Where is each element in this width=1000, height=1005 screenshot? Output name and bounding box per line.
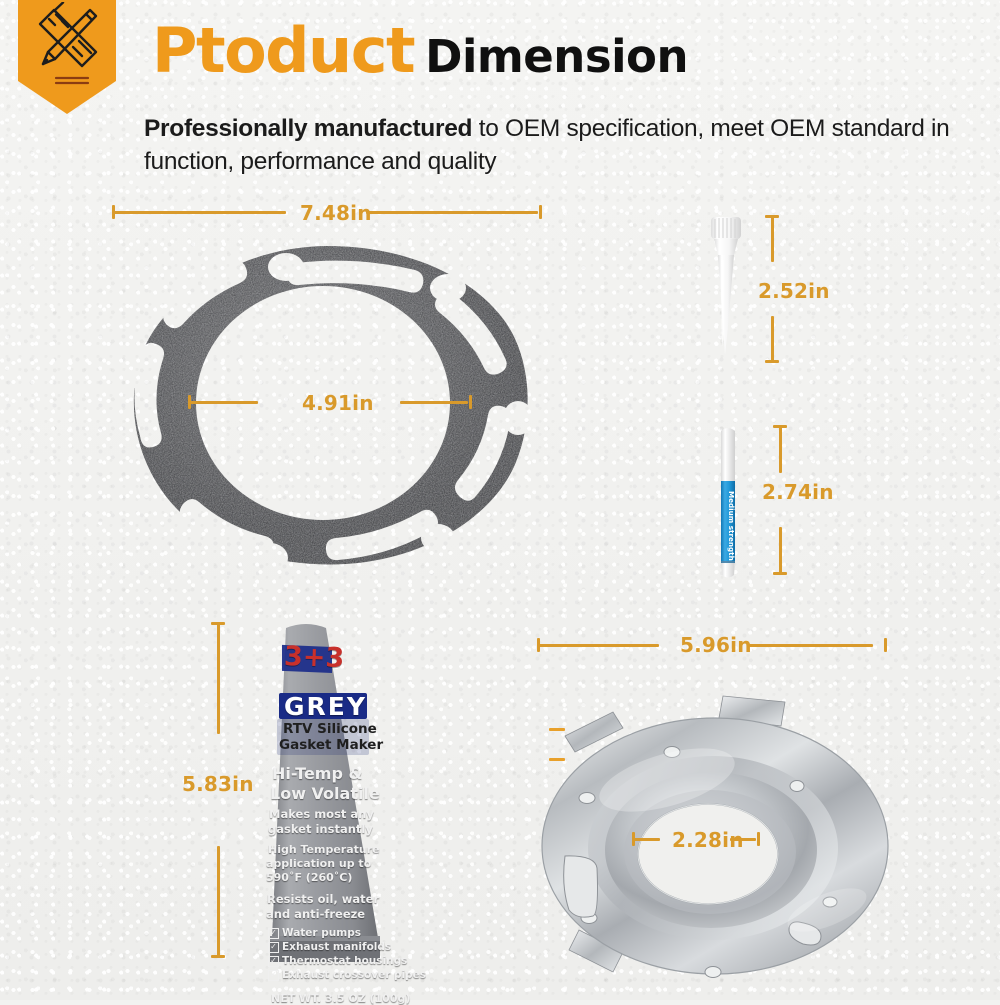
ruler-pencil-badge <box>18 0 116 114</box>
list-item: ✓ Thermostat housings <box>268 955 426 967</box>
tube-check-3: Exhaust crossover pipes <box>282 969 426 981</box>
dimension-pen-label: 2.74in <box>762 480 834 504</box>
tube-line4: Low Volatile <box>270 784 380 803</box>
tube-check-1: Exhaust manifolds <box>282 941 391 953</box>
tube-line8: application up to <box>266 857 371 870</box>
product-dimension-infographic: PtoductDimension Professionally manufact… <box>0 0 1000 1000</box>
tube-logo-text: 3+3 <box>283 641 344 674</box>
dimension-flange-bore-label: 2.28in <box>672 828 744 852</box>
tube-line6: gasket instantly <box>268 822 373 836</box>
flange-center-bore <box>638 804 778 904</box>
tube-check-0: Water pumps <box>282 927 361 939</box>
list-item: ✓ Water pumps <box>268 927 426 939</box>
ruler-pencil-icon <box>32 2 104 86</box>
applicator-nozzle-image <box>703 215 749 360</box>
tube-line5: Makes most any <box>269 807 374 821</box>
tube-brand-text: GREY <box>284 692 367 721</box>
tube-checklist: ✓ Water pumps ✓ Exhaust manifolds ✓ Ther… <box>268 927 426 981</box>
pen-tip <box>721 561 735 578</box>
rtv-silicone-tube-image: 3+3 GREY RTV Silicone Gasket Maker Hi-Te… <box>262 620 392 980</box>
checkbox-icon: ✓ <box>268 970 279 981</box>
threadlocker-pen-image: Medium strength <box>713 425 747 580</box>
list-item: ✓ Exhaust crossover pipes <box>268 969 426 981</box>
pen-label-text: Medium strength <box>727 491 736 561</box>
dimension-flange-outer-label: 5.96in <box>680 633 752 657</box>
dimension-gasket-outer-label: 7.48in <box>300 201 372 225</box>
list-item: ✓ Exhaust manifolds <box>268 941 426 953</box>
page-title: PtoductDimension <box>152 14 688 87</box>
tube-line2: Gasket Maker <box>279 737 383 753</box>
checkbox-icon: ✓ <box>268 956 279 967</box>
title-product: Ptoduct <box>152 14 414 87</box>
checkbox-icon: ✓ <box>268 942 279 953</box>
tube-line11: and anti-freeze <box>266 907 365 921</box>
dimension-tube-label: 5.83in <box>182 772 254 796</box>
tube-line7: High Temperature <box>268 843 380 856</box>
flange-tab-caliper-marks <box>549 728 565 768</box>
tube-line9: 590˚F (260˚C) <box>266 871 352 884</box>
title-dimension: Dimension <box>425 30 688 83</box>
nozzle-cone <box>718 255 734 355</box>
subtitle-text: Professionally manufactured to OEM speci… <box>144 112 994 178</box>
tube-line3: Hi-Temp & <box>272 764 362 783</box>
tube-net-weight: NET WT. 3.5 OZ (100g) <box>271 992 410 1005</box>
dimension-nozzle-label: 2.52in <box>758 279 830 303</box>
checkbox-icon: ✓ <box>268 928 279 939</box>
tube-line10: Resists oil, water <box>267 892 379 906</box>
pen-cap <box>721 428 735 483</box>
tube-check-2: Thermostat housings <box>282 955 407 967</box>
dimension-gasket-inner-label: 4.91in <box>302 391 374 415</box>
subtitle-emphasis: Professionally manufactured <box>144 115 472 142</box>
tube-line1: RTV Silicone <box>283 721 377 737</box>
